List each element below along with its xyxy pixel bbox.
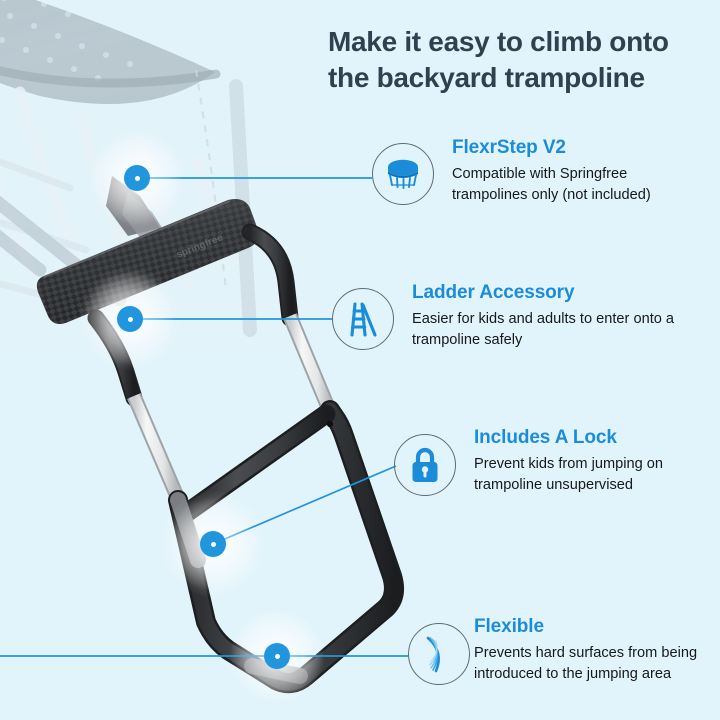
step-ladder-icon-glyph bbox=[346, 301, 380, 337]
feature-description: Compatible with Springfree trampolines o… bbox=[452, 164, 651, 205]
flex-curves-icon-glyph bbox=[422, 634, 456, 674]
trampoline-icon-glyph bbox=[383, 157, 423, 191]
feature-text-ladder: Ladder Accessory Easier for kids and adu… bbox=[412, 282, 674, 350]
feature-desc-line: trampoline safely bbox=[412, 330, 674, 351]
feature-desc-line: Prevent kids from jumping on bbox=[474, 454, 663, 475]
feature-desc-line: trampoline unsupervised bbox=[474, 475, 663, 496]
feature-title: Includes A Lock bbox=[474, 427, 663, 449]
feature-description: Easier for kids and adults to enter onto… bbox=[412, 309, 674, 350]
feature-title: FlexrStep V2 bbox=[452, 137, 651, 159]
padlock-icon-glyph bbox=[409, 446, 441, 484]
feature-description: Prevents hard surfaces from being introd… bbox=[474, 643, 697, 684]
page-title: Make it easy to climb onto the backyard … bbox=[328, 24, 708, 96]
padlock-icon bbox=[394, 434, 456, 496]
infographic-canvas: springfree bbox=[0, 0, 720, 720]
headline-line-1: Make it easy to climb onto bbox=[328, 24, 708, 60]
callout-connector-lines bbox=[0, 0, 720, 720]
callout-dot-ladder[interactable] bbox=[117, 306, 143, 332]
callout-dot-flexible[interactable] bbox=[264, 643, 290, 669]
callout-dot-flexrstep[interactable] bbox=[124, 165, 150, 191]
feature-desc-line: Compatible with Springfree bbox=[452, 164, 651, 185]
headline-line-2: the backyard trampoline bbox=[328, 60, 708, 96]
feature-title: Flexible bbox=[474, 616, 697, 638]
feature-description: Prevent kids from jumping on trampoline … bbox=[474, 454, 663, 495]
trampoline-icon bbox=[372, 143, 434, 205]
feature-desc-line: Prevents hard surfaces from being bbox=[474, 643, 697, 664]
feature-desc-line: Easier for kids and adults to enter onto… bbox=[412, 309, 674, 330]
feature-desc-line: trampolines only (not included) bbox=[452, 185, 651, 206]
feature-desc-line: introduced to the jumping area bbox=[474, 664, 697, 685]
flex-curves-icon bbox=[408, 623, 470, 685]
feature-text-flexrstep: FlexrStep V2 Compatible with Springfree … bbox=[452, 137, 651, 205]
feature-text-lock: Includes A Lock Prevent kids from jumpin… bbox=[474, 427, 663, 495]
feature-text-flexible: Flexible Prevents hard surfaces from bei… bbox=[474, 616, 697, 684]
callout-dot-lock[interactable] bbox=[200, 531, 226, 557]
step-ladder-icon bbox=[332, 288, 394, 350]
feature-title: Ladder Accessory bbox=[412, 282, 674, 304]
connector-line-lock bbox=[213, 466, 396, 544]
